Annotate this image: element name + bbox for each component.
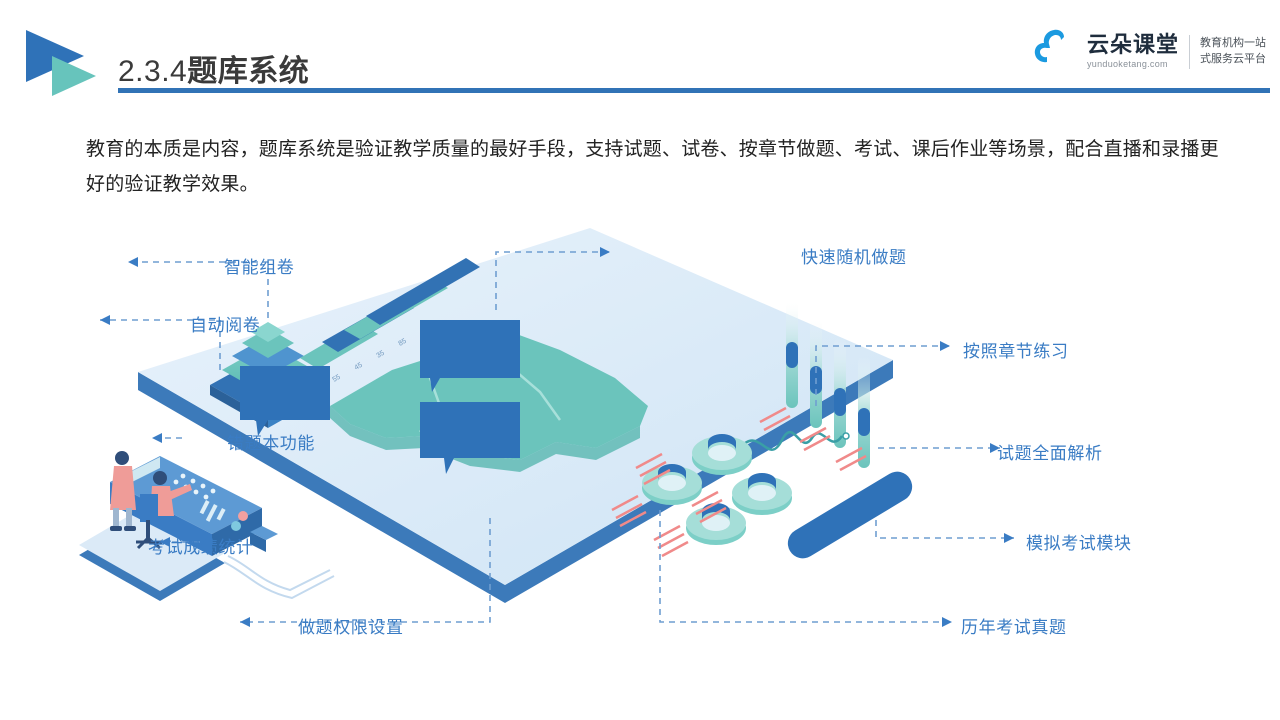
label-full-question-analysis[interactable]: 试题全面解析	[997, 439, 1103, 464]
cloud-icon	[1031, 28, 1077, 75]
connector-mock-exam-module	[876, 520, 1014, 538]
label-exam-score-statistics[interactable]: 考试成绩统计	[148, 533, 254, 558]
page-title: 2.3.4题库系统	[118, 46, 309, 90]
tube-bar-0	[786, 300, 798, 408]
label-fast-random-questions[interactable]: 快速随机做题	[801, 243, 907, 268]
tube-bar-3	[858, 356, 870, 468]
donut-2	[732, 473, 792, 515]
arrow-mistake-notebook	[152, 433, 162, 443]
brand-tagline: 教育机构一站 式服务云平台	[1200, 36, 1266, 68]
page-title-text: 题库系统	[187, 55, 309, 88]
arrow-past-exam-papers	[942, 617, 952, 627]
brand-divider	[1189, 35, 1190, 69]
tube-bar-2	[834, 338, 846, 448]
blue-pill-shape	[782, 466, 917, 564]
cloud-icon-shape	[1035, 30, 1064, 62]
brand-block: 云朵课堂 yunduoketang.com 教育机构一站 式服务云平台	[1031, 28, 1266, 75]
brand-domain: yunduoketang.com	[1087, 59, 1179, 69]
slide-canvas: 2.3.4题库系统 云朵课堂 yunduoketang.com 教育机构一站 式…	[0, 0, 1280, 720]
label-smart-paper-composition[interactable]: 智能组卷	[224, 253, 294, 278]
label-mistake-notebook[interactable]: 错题本功能	[227, 429, 315, 454]
donut-3	[686, 503, 746, 545]
arrow-question-permission-settings	[240, 617, 250, 627]
isometric-diagram: 55 45 35 85	[0, 210, 1280, 680]
label-mock-exam-module[interactable]: 模拟考试模块	[1026, 529, 1132, 554]
arrow-auto-grading	[100, 315, 110, 325]
arrow-mock-exam-module	[1004, 533, 1014, 543]
label-past-exam-papers[interactable]: 历年考试真题	[961, 613, 1067, 638]
header-logo-mark	[22, 26, 118, 98]
label-auto-grading[interactable]: 自动阅卷	[190, 311, 260, 336]
wire-2	[224, 562, 334, 598]
page-title-number: 2.3.4	[118, 55, 187, 88]
logo-triangle-secondary	[52, 56, 96, 96]
intro-paragraph: 教育的本质是内容，题库系统是验证教学质量的最好手段，支持试题、试卷、按章节做题、…	[86, 132, 1226, 202]
brand-tagline-line-1: 教育机构一站	[1200, 36, 1266, 52]
brand-name: 云朵课堂	[1087, 34, 1179, 56]
label-question-permission-settings[interactable]: 做题权限设置	[298, 613, 404, 638]
page-title-wrap: 2.3.4题库系统	[118, 46, 309, 90]
arrow-practice-by-chapter	[940, 341, 950, 351]
label-practice-by-chapter[interactable]: 按照章节练习	[963, 337, 1069, 362]
brand-logo: 云朵课堂 yunduoketang.com	[1087, 34, 1179, 69]
brand-tagline-line-2: 式服务云平台	[1200, 52, 1266, 68]
title-underline-rule	[118, 88, 1270, 93]
arrow-smart-paper-composition	[128, 257, 138, 267]
